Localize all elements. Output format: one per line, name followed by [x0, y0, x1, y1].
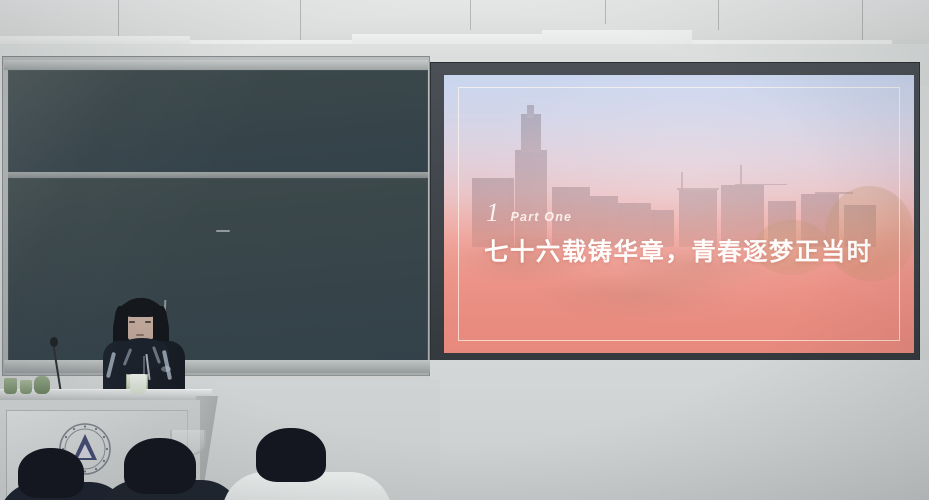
ceiling-seam	[718, 0, 719, 30]
presenter-eye	[129, 321, 135, 323]
presenter-jacket-logo	[161, 366, 171, 372]
green-cup	[34, 376, 50, 394]
ceiling-seam	[605, 0, 606, 24]
microphone-capsule-icon	[50, 337, 58, 347]
blackboard-chalk-mark	[216, 230, 230, 232]
presenter-mouth	[136, 334, 144, 336]
slide-section-label: Part One	[511, 210, 573, 224]
paper-cup	[130, 374, 146, 394]
classroom-scene: 1 Part One 七十六载铸华章，青春逐梦正当时	[0, 0, 929, 500]
blackboard-panel-lower	[8, 178, 428, 363]
blackboard-top-rail	[4, 60, 428, 70]
slide-section-number: 1	[486, 200, 500, 226]
ceiling-seam	[862, 0, 863, 40]
audience-member-right	[236, 428, 376, 500]
slide-section-marker: 1 Part One	[486, 200, 572, 226]
audience-head	[124, 438, 196, 494]
ceiling-seam	[470, 0, 471, 30]
presenter-eye	[145, 321, 151, 323]
green-cup	[20, 380, 32, 394]
audience-head	[18, 448, 84, 498]
audience-head	[256, 428, 326, 482]
slide-title: 七十六载铸华章，青春逐梦正当时	[484, 233, 873, 268]
audience-member-center	[106, 438, 232, 500]
blackboard-chalk-tray	[4, 360, 430, 373]
right-lower-wall	[430, 360, 929, 500]
blackboard-panel-upper	[8, 70, 428, 175]
green-cup	[4, 378, 17, 394]
projection-screen-surface[interactable]: 1 Part One 七十六载铸华章，青春逐梦正当时	[444, 75, 914, 353]
slide-scrub	[529, 275, 745, 319]
